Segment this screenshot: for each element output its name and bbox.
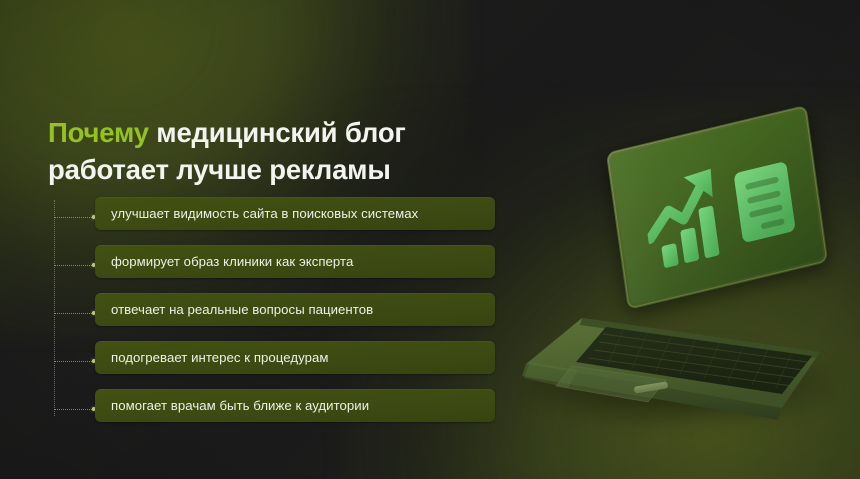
slide-canvas: Почему медицинский блог работает лучше р… bbox=[0, 0, 860, 479]
benefit-item-3[interactable]: отвечает на реальные вопросы пациентов bbox=[95, 293, 495, 326]
benefit-label: отвечает на реальные вопросы пациентов bbox=[111, 303, 373, 316]
growth-bar-chart-icon bbox=[640, 164, 736, 276]
benefit-label: помогает врачам быть ближе к аудитории bbox=[111, 399, 369, 412]
connector-branch-3 bbox=[54, 313, 94, 314]
laptop-front-edge bbox=[530, 396, 820, 418]
benefit-item-4[interactable]: подогревает интерес к процедурам bbox=[95, 341, 495, 374]
document-lines-icon bbox=[731, 159, 798, 246]
benefit-item-1[interactable]: улучшает видимость сайта в поисковых сис… bbox=[95, 197, 495, 230]
connector-spine bbox=[54, 200, 55, 416]
headline-accent-word: Почему bbox=[48, 117, 149, 148]
laptop-illustration bbox=[516, 146, 856, 436]
benefits-list: улучшает видимость сайта в поисковых сис… bbox=[95, 197, 495, 422]
headline-line1-rest: медицинский блог bbox=[149, 117, 406, 148]
page-title: Почему медицинский блог работает лучше р… bbox=[48, 114, 518, 188]
connector-branch-2 bbox=[54, 265, 94, 266]
benefit-label: формирует образ клиники как эксперта bbox=[111, 255, 353, 268]
benefit-label: улучшает видимость сайта в поисковых сис… bbox=[111, 207, 418, 220]
laptop-base bbox=[520, 300, 840, 420]
headline-line2: работает лучше рекламы bbox=[48, 154, 391, 185]
connector-tree bbox=[54, 196, 100, 424]
benefit-item-5[interactable]: помогает врачам быть ближе к аудитории bbox=[95, 389, 495, 422]
connector-branch-4 bbox=[54, 361, 94, 362]
connector-branch-5 bbox=[54, 409, 94, 410]
benefit-label: подогревает интерес к процедурам bbox=[111, 351, 328, 364]
benefit-item-2[interactable]: формирует образ клиники как эксперта bbox=[95, 245, 495, 278]
connector-branch-1 bbox=[54, 217, 94, 218]
